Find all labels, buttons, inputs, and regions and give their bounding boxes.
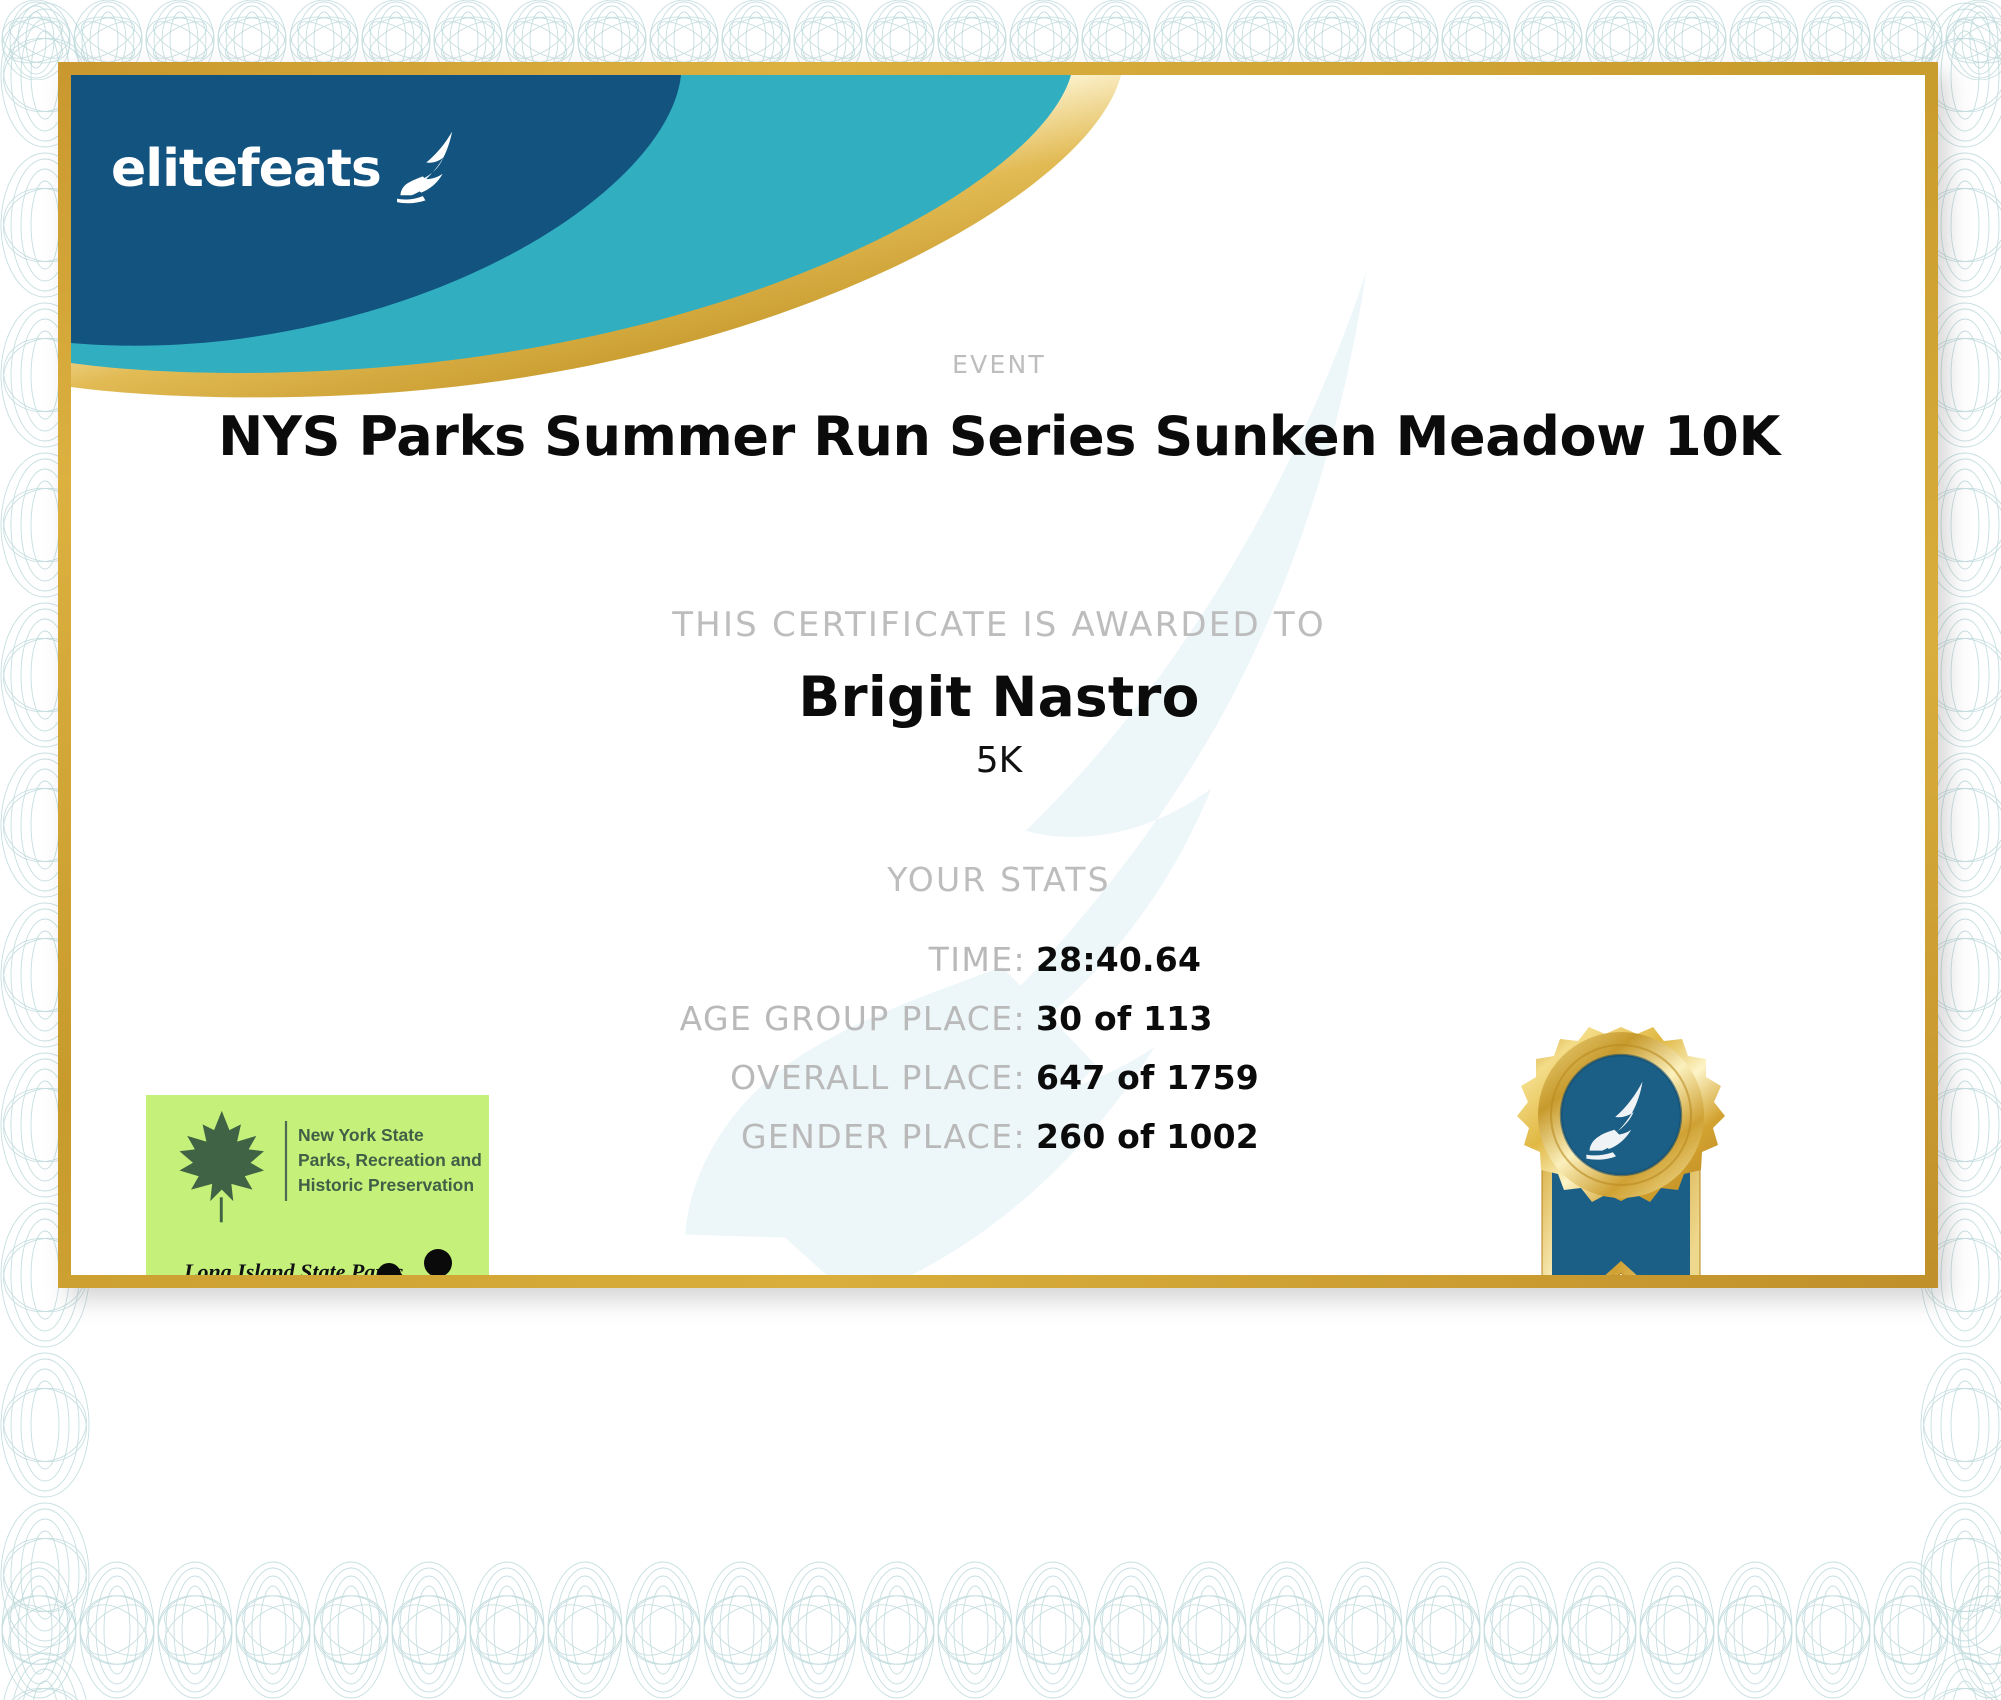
certificate-page: elitefeats EVENT NYS Parks Summer Run (0, 0, 2001, 1700)
stat-row-time: TIME: 28:40.64 (71, 940, 1927, 979)
awarded-to-label: THIS CERTIFICATE IS AWARDED TO (71, 605, 1927, 645)
certificate-frame: elitefeats EVENT NYS Parks Summer Run (58, 62, 1938, 1288)
svg-text:Parks, Recreation and: Parks, Recreation and (298, 1150, 482, 1170)
certificate-body: EVENT NYS Parks Summer Run Series Sunken… (71, 75, 1927, 1275)
recipient-name: Brigit Nastro (71, 665, 1927, 729)
stat-value-age-group-place: 30 of 113 (1036, 999, 1213, 1038)
your-stats-label: YOUR STATS (71, 860, 1927, 899)
svg-text:Long Island State Parks: Long Island State Parks (183, 1259, 403, 1284)
stat-value-overall-place: 647 of 1759 (1036, 1058, 1259, 1097)
stat-value-time: 28:40.64 (1036, 940, 1201, 979)
stat-value-gender-place: 260 of 1002 (1036, 1117, 1259, 1156)
stat-label-age-group-place: AGE GROUP PLACE: (71, 999, 1036, 1038)
security-pattern-bottom (0, 1560, 2001, 1700)
event-name: NYS Parks Summer Run Series Sunken Meado… (71, 405, 1927, 468)
stat-label-overall-place: OVERALL PLACE: (71, 1058, 1036, 1097)
stat-label-time: TIME: (71, 940, 1036, 979)
svg-text:Historic Preservation: Historic Preservation (298, 1175, 474, 1195)
sponsor-logo-summer-run: New York State Parks, Recreation and His… (146, 1095, 489, 1288)
finisher-medal: 2023 FINISHER CERTIFICATE (1456, 1005, 1786, 1288)
recipient-division: 5K (71, 740, 1927, 781)
svg-text:New York State: New York State (298, 1125, 424, 1145)
event-label: EVENT (71, 350, 1927, 379)
